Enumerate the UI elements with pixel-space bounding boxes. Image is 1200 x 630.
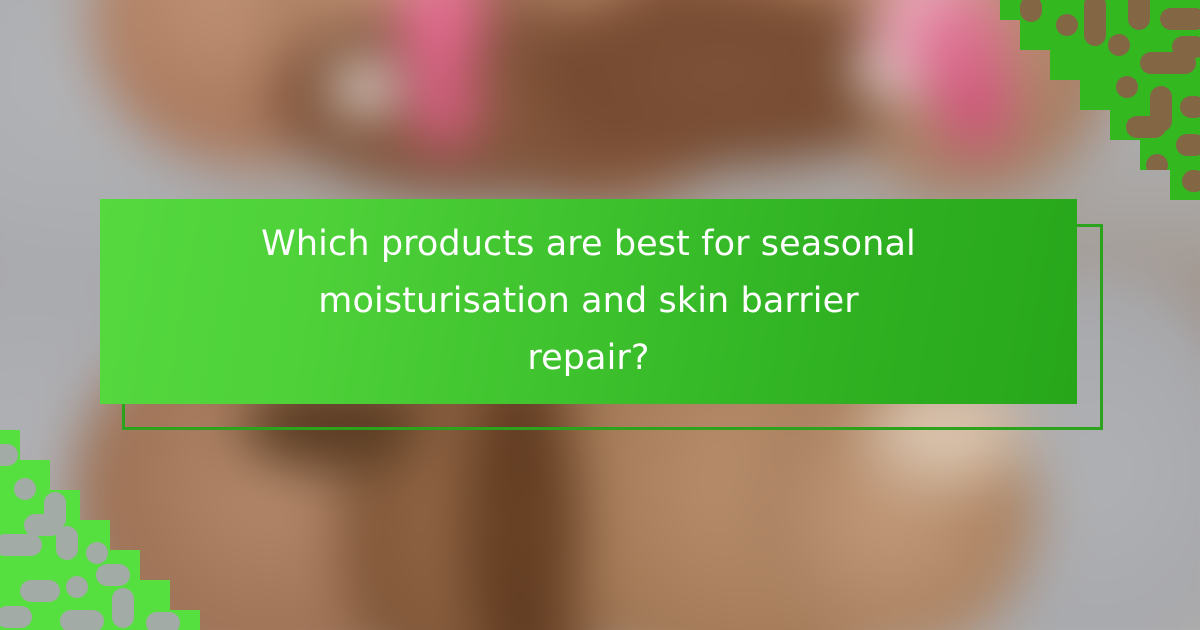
background-pink-nail	[935, 70, 1015, 150]
share-card-canvas: Which products are best for seasonal moi…	[0, 0, 1200, 630]
headline-banner: Which products are best for seasonal moi…	[100, 199, 1077, 404]
background-pink-nail	[410, 70, 480, 150]
headline-text: Which products are best for seasonal moi…	[259, 216, 919, 386]
background-nail-tip	[330, 60, 400, 115]
